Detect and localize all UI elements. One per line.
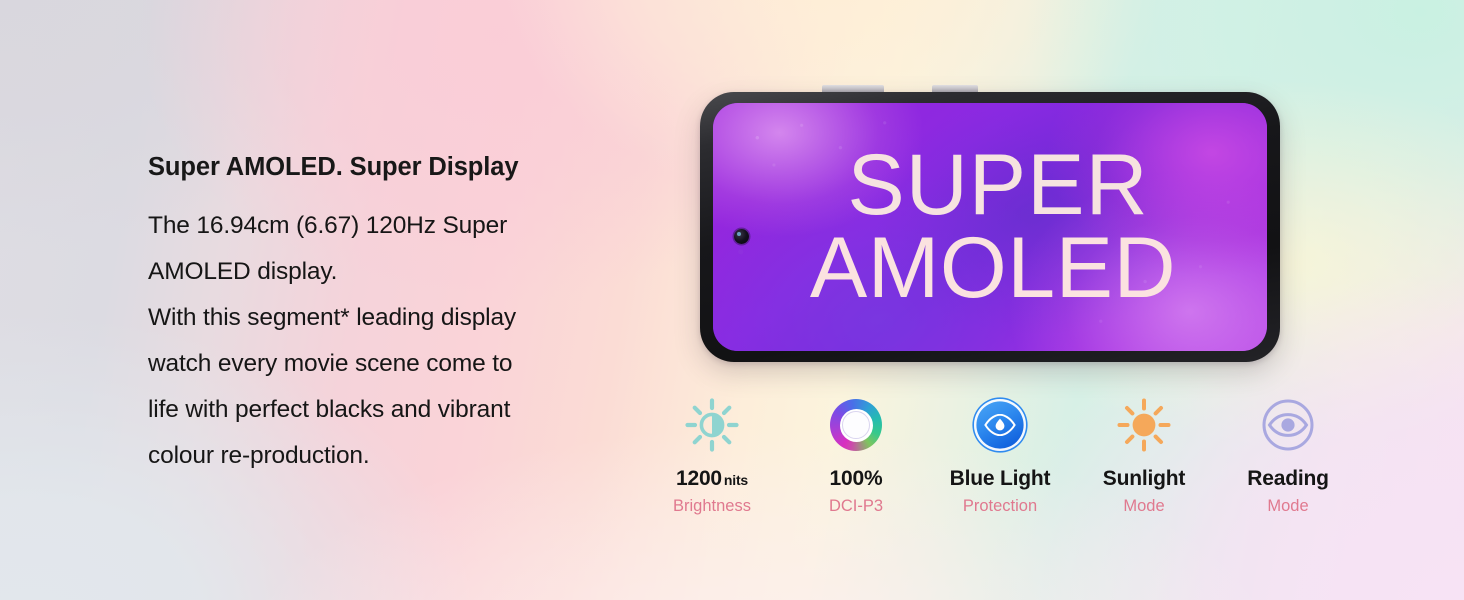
blue-light-eye-icon <box>974 396 1026 454</box>
gamut-ring-outer <box>830 399 882 451</box>
gamut-ring-inner <box>840 409 873 442</box>
feature-brightness-sub: Brightness <box>673 498 751 515</box>
feature-color-gamut-value: 100% <box>830 467 883 490</box>
copy-line-2: AMOLED display. <box>148 249 648 295</box>
copy-paragraphs: The 16.94cm (6.67) 120Hz Super AMOLED di… <box>148 203 648 479</box>
feature-brightness-value: 1200 <box>676 467 722 490</box>
feature-brightness-title: 1200nits <box>676 468 748 489</box>
copy-line-5: life with perfect blacks and vibrant <box>148 387 648 433</box>
feature-color-gamut: 100% DCI-P3 <box>784 396 928 536</box>
feature-sunlight-title: Sunlight <box>1103 468 1185 489</box>
feature-reading-value: Reading <box>1247 467 1328 490</box>
copy-line-6: colour re-production. <box>148 433 648 479</box>
screen-headline-line-1: SUPER <box>847 145 1148 226</box>
phone-screen: SUPER AMOLED <box>713 103 1267 351</box>
feature-color-gamut-sub: DCI-P3 <box>829 498 883 515</box>
display-feature-banner: Super AMOLED. Super Display The 16.94cm … <box>0 0 1464 600</box>
screen-headline-line-2: AMOLED <box>810 228 1176 309</box>
color-gamut-ring-icon <box>830 396 882 454</box>
copy-line-1: The 16.94cm (6.67) 120Hz Super <box>148 203 648 249</box>
feature-color-gamut-title: 100% <box>830 468 883 489</box>
marketing-copy-block: Super AMOLED. Super Display The 16.94cm … <box>148 152 648 479</box>
page-title: Super AMOLED. Super Display <box>148 152 648 183</box>
feature-strip: 1200nits Brightness 100% DCI-P3 <box>640 396 1360 536</box>
screen-headline: SUPER AMOLED <box>713 103 1267 351</box>
copy-line-4: watch every movie scene come to <box>148 341 648 387</box>
reading-eye-icon <box>1261 396 1315 454</box>
feature-sunlight: Sunlight Mode <box>1072 396 1216 536</box>
feature-sunlight-sub: Mode <box>1123 498 1164 515</box>
blue-light-circle <box>974 399 1026 451</box>
feature-reading-title: Reading <box>1247 468 1328 489</box>
feature-blue-light-title: Blue Light <box>950 468 1051 489</box>
feature-reading-sub: Mode <box>1267 498 1308 515</box>
phone-mockup: SUPER AMOLED <box>700 92 1280 362</box>
power-button <box>932 85 978 92</box>
feature-blue-light-sub: Protection <box>963 498 1037 515</box>
sunlight-sun-icon <box>1116 396 1172 454</box>
brightness-sun-icon <box>684 396 740 454</box>
phone-frame: SUPER AMOLED <box>700 92 1280 362</box>
volume-rocker-button <box>822 85 884 92</box>
feature-brightness: 1200nits Brightness <box>640 396 784 536</box>
gamut-ring-core <box>842 411 870 439</box>
feature-blue-light: Blue Light Protection <box>928 396 1072 536</box>
feature-reading: Reading Mode <box>1216 396 1360 536</box>
feature-brightness-unit: nits <box>724 472 748 488</box>
feature-blue-light-value: Blue Light <box>950 467 1051 490</box>
copy-line-3: With this segment* leading display <box>148 295 648 341</box>
punch-hole-camera-icon <box>734 229 749 244</box>
feature-sunlight-value: Sunlight <box>1103 467 1185 490</box>
